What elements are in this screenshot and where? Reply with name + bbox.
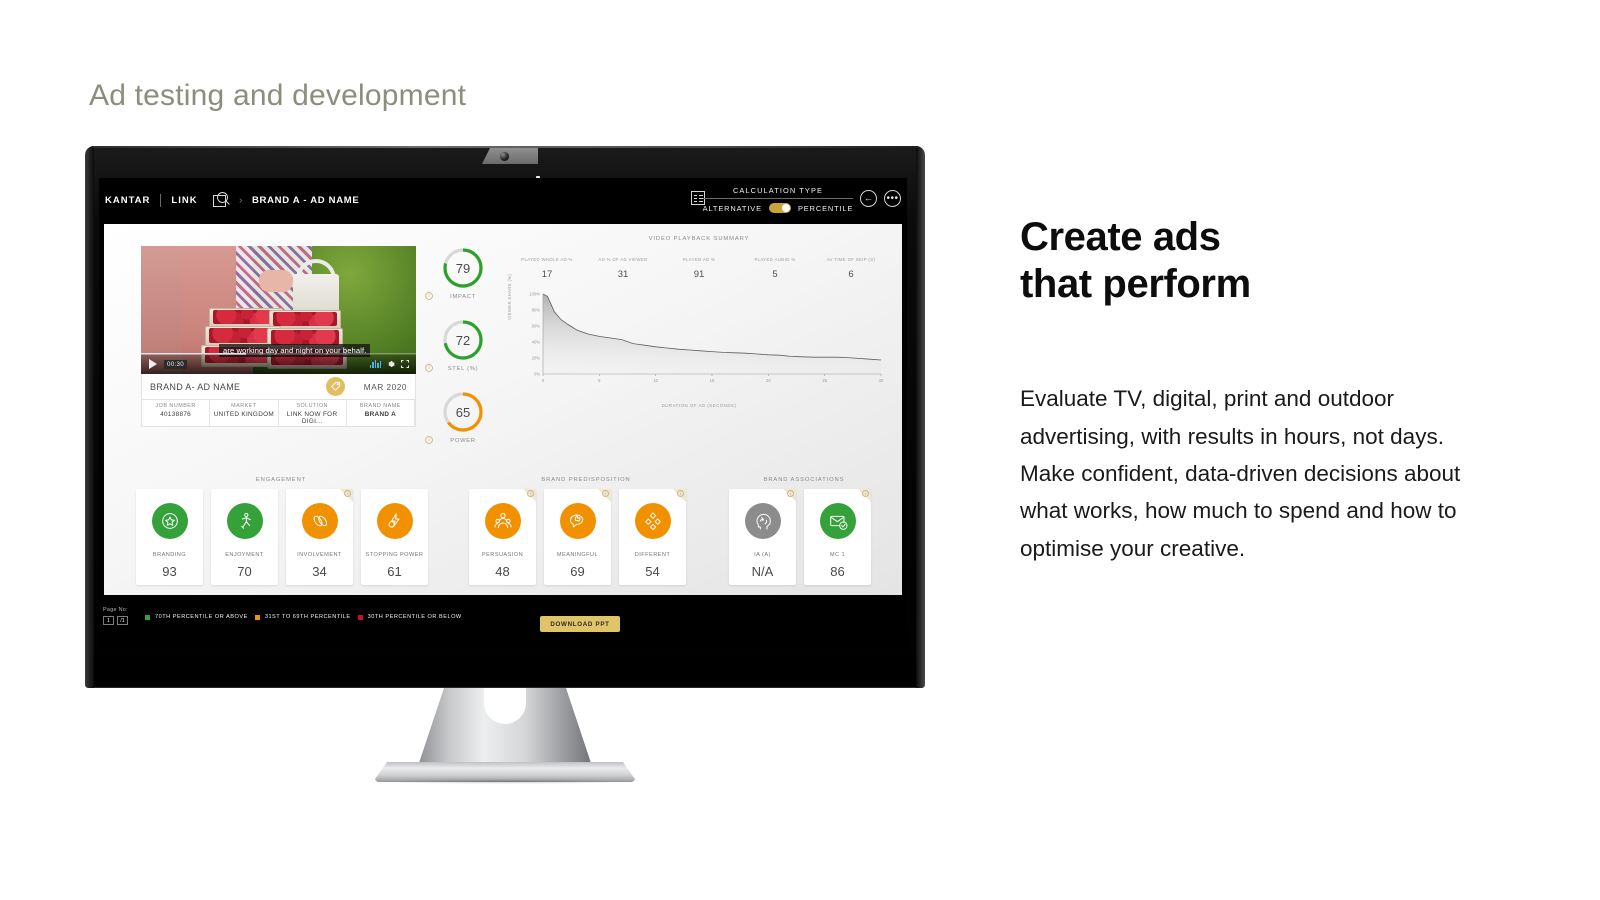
card-fold-corner: i bbox=[523, 489, 536, 502]
gauge-stel: 72iSTEL (%) bbox=[424, 318, 502, 390]
lightning-icon bbox=[377, 503, 413, 539]
page-current-input[interactable]: 1 bbox=[103, 616, 114, 625]
calculation-type-control[interactable]: CALCULATION TYPE ALTERNATIVE PERCENTILE bbox=[703, 186, 853, 213]
legend-label: 30TH PERCENTILE OR BELOW bbox=[368, 614, 462, 620]
gauge-impact: 79iIMPACT bbox=[424, 246, 502, 318]
gauge-value: 65 bbox=[441, 390, 485, 434]
metric-label: MC 1 bbox=[830, 552, 845, 558]
playback-kpi: AD % OF AD VIEWED31 bbox=[585, 257, 661, 280]
star-badge-icon bbox=[152, 503, 188, 539]
ad-date: MAR 2020 bbox=[364, 382, 407, 392]
metric-card[interactable]: iDIFFERENT54 bbox=[619, 489, 686, 585]
video-timecode: 00:30 bbox=[164, 360, 187, 369]
ad-title: BRAND A- AD NAME bbox=[150, 382, 240, 392]
legend-label: 31ST TO 69TH PERCENTILE bbox=[265, 614, 351, 620]
more-options-button[interactable]: ••• bbox=[884, 190, 901, 207]
info-icon[interactable]: i bbox=[344, 490, 351, 497]
calculation-type-toggle[interactable] bbox=[769, 203, 791, 213]
chart-y-axis-label: VIEWER SHARE (%) bbox=[507, 274, 512, 320]
metric-label: DIFFERENT bbox=[635, 552, 670, 558]
brand-link-label: LINK bbox=[171, 195, 197, 206]
page-title: Ad testing and development bbox=[89, 79, 466, 113]
svg-text:15: 15 bbox=[710, 378, 715, 383]
card-fold-corner: i bbox=[340, 489, 353, 502]
metric-card[interactable]: STOPPING POWER61 bbox=[361, 489, 428, 585]
app-topbar: KANTAR LINK › BRAND A - AD NAME bbox=[99, 178, 907, 224]
metric-value: 54 bbox=[645, 564, 659, 579]
gauge-ring: 79 bbox=[441, 246, 485, 290]
legend-swatch bbox=[255, 615, 260, 620]
metric-value: 70 bbox=[237, 564, 251, 579]
metric-label: INVOLVEMENT bbox=[297, 552, 342, 558]
page-number-label: Page No: bbox=[103, 607, 128, 613]
kpi-label: PLAYED AUDIO % bbox=[737, 257, 813, 262]
gauge-power: 65iPOWER bbox=[424, 390, 502, 462]
back-button[interactable]: ← bbox=[860, 190, 877, 207]
more-dots-icon: ••• bbox=[886, 194, 898, 204]
gauge-label: POWER bbox=[424, 438, 502, 444]
info-icon[interactable]: i bbox=[527, 490, 534, 497]
diamonds-icon bbox=[635, 503, 671, 539]
metric-card-row: BRANDING93ENJOYMENT70iINVOLVEMENT34STOPP… bbox=[136, 489, 428, 585]
metric-card[interactable]: iPERSUASION48 bbox=[469, 489, 536, 585]
meta-value: LINK NOW FOR DIGI... bbox=[279, 411, 346, 425]
metric-label: PERSUASION bbox=[482, 552, 523, 558]
gauge-label: STEL (%) bbox=[424, 366, 502, 372]
ad-title-row: BRAND A- AD NAME MAR 2020 bbox=[141, 374, 416, 400]
meta-value: 40138876 bbox=[142, 411, 209, 418]
envelope-check-icon bbox=[820, 503, 856, 539]
svg-text:20: 20 bbox=[766, 378, 771, 383]
chart-title: VIDEO PLAYBACK SUMMARY bbox=[509, 236, 889, 242]
meta-cell-market: MARKET UNITED KINGDOM bbox=[210, 400, 278, 426]
brand-divider bbox=[160, 194, 161, 207]
thumbs-up-chat-icon bbox=[560, 503, 596, 539]
svg-text:25: 25 bbox=[822, 378, 827, 383]
metric-value: 48 bbox=[495, 564, 509, 579]
playback-kpi: PLAYED AD %91 bbox=[661, 257, 737, 280]
svg-text:20%: 20% bbox=[532, 356, 541, 361]
calc-option-percentile[interactable]: PERCENTILE bbox=[798, 204, 853, 213]
gauge-label: IMPACT bbox=[424, 294, 502, 300]
section-label-engagement: ENGAGEMENT bbox=[136, 477, 426, 483]
promo-body: Evaluate TV, digital, print and outdoor … bbox=[1020, 380, 1490, 567]
kpi-label: PLAYED AD % bbox=[661, 257, 737, 262]
app-footer: Page No: 1 /1 70TH PERCENTILE OR ABOVE31… bbox=[99, 595, 907, 648]
head-brain-icon bbox=[745, 503, 781, 539]
ad-metadata-table: JOB NUMBER 40138876 MARKET UNITED KINGDO… bbox=[141, 400, 416, 427]
calculation-type-label: CALCULATION TYPE bbox=[703, 186, 853, 195]
svg-text:30: 30 bbox=[879, 378, 884, 383]
kpi-label: PLAYED WHOLE AD % bbox=[509, 257, 585, 262]
page-total: /1 bbox=[117, 616, 128, 625]
meta-cell-brand-name: BRAND NAME BRAND A bbox=[347, 400, 415, 426]
svg-text:5: 5 bbox=[598, 378, 601, 383]
page-number-control: Page No: 1 /1 bbox=[103, 607, 128, 625]
meta-value: UNITED KINGDOM bbox=[210, 411, 277, 418]
metric-label: MEANINGFUL bbox=[557, 552, 598, 558]
monitor-edge-right bbox=[916, 146, 925, 688]
card-fold-corner: i bbox=[783, 489, 796, 502]
kpi-value: 5 bbox=[737, 269, 813, 280]
metric-value: 61 bbox=[387, 564, 401, 579]
gauge-value: 72 bbox=[441, 318, 485, 362]
audience-icon bbox=[485, 503, 521, 539]
metric-value: 86 bbox=[830, 564, 844, 579]
kpi-value: 91 bbox=[661, 269, 737, 280]
metric-card[interactable]: ENJOYMENT70 bbox=[211, 489, 278, 585]
gear-icon[interactable] bbox=[387, 360, 395, 368]
metric-value: 93 bbox=[162, 564, 176, 579]
legend-item: 31ST TO 69TH PERCENTILE bbox=[255, 614, 351, 620]
svg-text:0: 0 bbox=[542, 378, 545, 383]
meta-value: BRAND A bbox=[347, 411, 414, 418]
card-fold-corner: i bbox=[598, 489, 611, 502]
gauge-value: 79 bbox=[441, 246, 485, 290]
card-fold-corner: i bbox=[858, 489, 871, 502]
chart-plot: 0%20%40%60%80%100%051015202530 bbox=[509, 290, 889, 394]
metric-label: BRANDING bbox=[153, 552, 186, 558]
info-icon[interactable]: i bbox=[677, 490, 684, 497]
monitor-top-highlight bbox=[93, 146, 917, 148]
metric-value: N/A bbox=[752, 564, 774, 579]
section-label-brand-associations: BRAND ASSOCIATIONS bbox=[729, 477, 879, 483]
legend-item: 70TH PERCENTILE OR ABOVE bbox=[145, 614, 248, 620]
breadcrumb-separator-icon: › bbox=[239, 195, 242, 206]
metric-card-row: iPERSUASION48iMEANINGFUL69iDIFFERENT54 bbox=[469, 489, 686, 585]
monitor-edge-left bbox=[85, 146, 94, 688]
tag-icon[interactable] bbox=[326, 377, 345, 396]
video-hand bbox=[259, 270, 293, 292]
legend-swatch bbox=[358, 615, 363, 620]
kpi-label: AV TIME OF SKIP (S) bbox=[813, 257, 889, 262]
kpi-value: 6 bbox=[813, 269, 889, 280]
video-playback-summary: VIDEO PLAYBACK SUMMARY PLAYED WHOLE AD %… bbox=[509, 236, 889, 398]
search-ad-icon[interactable] bbox=[211, 190, 231, 215]
info-icon[interactable]: i bbox=[602, 490, 609, 497]
brand-kantar-label: KANTAR bbox=[105, 195, 150, 206]
score-gauges: 79iIMPACT72iSTEL (%)65iPOWER bbox=[424, 246, 502, 462]
video-card: are working day and night on your behalf… bbox=[141, 246, 416, 427]
play-icon[interactable] bbox=[149, 359, 157, 369]
svg-text:60%: 60% bbox=[532, 324, 541, 329]
video-controls: 00:30 bbox=[141, 354, 416, 374]
card-fold-corner: i bbox=[673, 489, 686, 502]
gauge-ring: 65 bbox=[441, 390, 485, 434]
metric-card[interactable]: iMEANINGFUL69 bbox=[544, 489, 611, 585]
metric-card-row: iIA (A)N/AiMC 186 bbox=[729, 489, 871, 585]
promo-heading-line1: Create ads bbox=[1020, 214, 1490, 261]
kpi-value: 31 bbox=[585, 269, 661, 280]
svg-text:100%: 100% bbox=[529, 292, 540, 297]
metric-label: STOPPING POWER bbox=[366, 552, 424, 558]
metric-value: 69 bbox=[570, 564, 584, 579]
playback-kpi-row: PLAYED WHOLE AD %17AD % OF AD VIEWED31PL… bbox=[509, 257, 889, 280]
calc-option-alternative[interactable]: ALTERNATIVE bbox=[703, 204, 762, 213]
metric-card[interactable]: iMC 186 bbox=[804, 489, 871, 585]
kpi-label: AD % OF AD VIEWED bbox=[585, 257, 661, 262]
meta-cell-job-number: JOB NUMBER 40138876 bbox=[142, 400, 210, 426]
audio-levels-icon[interactable] bbox=[370, 360, 382, 368]
svg-text:40%: 40% bbox=[532, 340, 541, 345]
playback-kpi: PLAYED WHOLE AD %17 bbox=[509, 257, 585, 280]
download-ppt-button[interactable]: DOWNLOAD PPT bbox=[540, 616, 620, 632]
playback-kpi: AV TIME OF SKIP (S)6 bbox=[813, 257, 889, 280]
meta-cell-solution: SOLUTION LINK NOW FOR DIGI... bbox=[279, 400, 347, 426]
person-dancing-icon bbox=[227, 503, 263, 539]
section-label-brand-predisposition: BRAND PREDISPOSITION bbox=[469, 477, 703, 483]
metric-label: ENJOYMENT bbox=[225, 552, 264, 558]
legend-label: 70TH PERCENTILE OR ABOVE bbox=[155, 614, 248, 620]
metric-card[interactable]: BRANDING93 bbox=[136, 489, 203, 585]
viewer-share-chart: VIEWER SHARE (%) DURATION OF AD (SECONDS… bbox=[509, 290, 889, 398]
gauge-ring: 72 bbox=[441, 318, 485, 362]
meta-header: MARKET bbox=[210, 403, 277, 409]
meta-header: BRAND NAME bbox=[347, 403, 414, 409]
info-icon[interactable]: i bbox=[862, 490, 869, 497]
promo-block: Create ads that perform Evaluate TV, dig… bbox=[1020, 214, 1490, 567]
fullscreen-icon[interactable] bbox=[401, 360, 409, 368]
chart-x-axis-label: DURATION OF AD (SECONDS) bbox=[509, 403, 889, 408]
legend-swatch bbox=[145, 615, 150, 620]
svg-text:80%: 80% bbox=[532, 308, 541, 313]
metric-label: IA (A) bbox=[754, 552, 771, 558]
legend-item: 30TH PERCENTILE OR BELOW bbox=[358, 614, 462, 620]
metric-card[interactable]: iIA (A)N/A bbox=[729, 489, 796, 585]
calculation-rule bbox=[703, 198, 853, 199]
webcam-plate bbox=[482, 148, 538, 164]
svg-text:0%: 0% bbox=[534, 372, 540, 377]
breadcrumb-title: BRAND A - AD NAME bbox=[252, 195, 359, 206]
percentile-legend: 70TH PERCENTILE OR ABOVE31ST TO 69TH PER… bbox=[145, 614, 462, 620]
brand-lockup[interactable]: KANTAR LINK bbox=[105, 194, 198, 207]
back-arrow-icon: ← bbox=[864, 194, 873, 203]
metric-value: 34 bbox=[312, 564, 326, 579]
info-icon[interactable]: i bbox=[787, 490, 794, 497]
svg-text:10: 10 bbox=[653, 378, 658, 383]
playback-kpi: PLAYED AUDIO %5 bbox=[737, 257, 813, 280]
meta-header: JOB NUMBER bbox=[142, 403, 209, 409]
promo-heading-line2: that perform bbox=[1020, 261, 1490, 308]
metric-card[interactable]: iINVOLVEMENT34 bbox=[286, 489, 353, 585]
webcam-icon bbox=[500, 152, 509, 161]
linked-rings-icon bbox=[302, 503, 338, 539]
meta-header: SOLUTION bbox=[279, 403, 346, 409]
kpi-value: 17 bbox=[509, 269, 585, 280]
video-player[interactable]: are working day and night on your behalf… bbox=[141, 246, 416, 374]
monitor-base-shadow bbox=[366, 779, 644, 784]
